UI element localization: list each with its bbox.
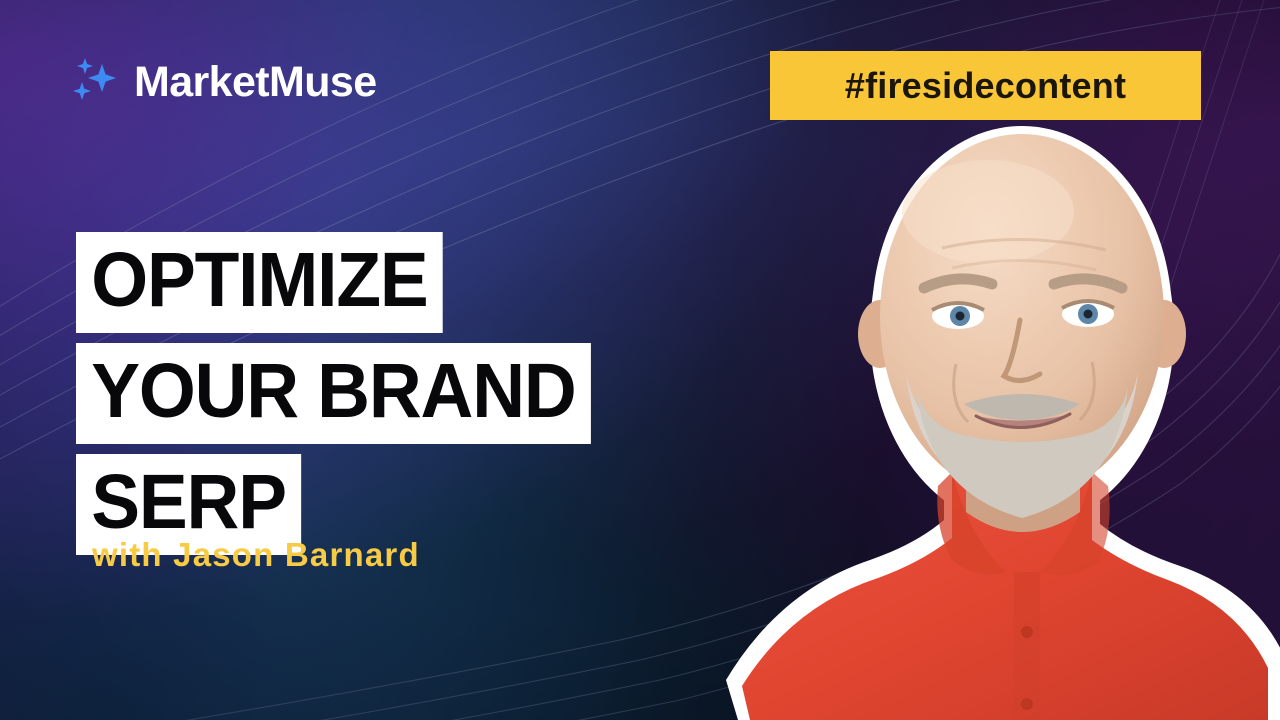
sparkles-icon bbox=[68, 56, 120, 108]
presenter-subtitle: with Jason Barnard bbox=[92, 538, 420, 571]
hashtag-badge: #firesidecontent bbox=[770, 51, 1201, 120]
slide-canvas: MarketMuse #firesidecontent OPTIMIZE YOU… bbox=[0, 0, 1280, 720]
presenter-portrait bbox=[720, 120, 1280, 720]
headline-line-1: OPTIMIZE bbox=[76, 232, 443, 333]
brand-logo-text: MarketMuse bbox=[134, 61, 377, 104]
brand-logo: MarketMuse bbox=[68, 56, 377, 108]
headline-group: OPTIMIZE YOUR BRAND SERP bbox=[76, 232, 618, 555]
headline-line-2: YOUR BRAND bbox=[76, 343, 591, 444]
hashtag-badge-label: #firesidecontent bbox=[845, 68, 1126, 104]
